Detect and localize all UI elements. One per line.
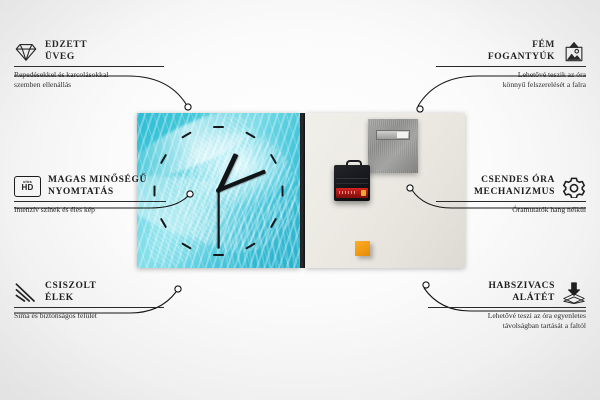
divider: [436, 201, 586, 202]
feature-title-line: ÜVEG: [45, 52, 87, 64]
connector-endpoint: [185, 104, 191, 110]
feature-subtitle-line: Lehetővé teszik az óra: [436, 70, 586, 80]
feature-title: EDZETT ÜVEG: [45, 40, 87, 63]
connector-endpoint: [407, 185, 413, 191]
divider: [14, 307, 164, 308]
feature-quiet-mechanism: CSENDES ÓRA MECHANIZMUS Óramutatók hang …: [436, 175, 586, 215]
feature-subtitle: Lehetővé teszik az óra könnyű felszerelé…: [436, 70, 586, 89]
feature-header: CSENDES ÓRA MECHANIZMUS: [436, 175, 586, 198]
feature-title-line: NYOMTATÁS: [48, 187, 147, 199]
feature-high-quality-print: ultra HD MAGAS MINŐSÉGŰ NYOMTATÁS Intenz…: [14, 175, 166, 215]
feature-header: ultra HD MAGAS MINŐSÉGŰ NYOMTATÁS: [14, 175, 166, 198]
feature-subtitle: Óramutatók hang nélkül: [436, 205, 586, 215]
divider: [14, 66, 164, 67]
feature-title-line: MAGAS MINŐSÉGŰ: [48, 175, 147, 187]
feature-title-line: ALÁTÉT: [488, 293, 555, 305]
feature-subtitle-line: Sima és biztonságos felület: [14, 311, 164, 321]
feature-subtitle-line: Lehetővé teszi az óra egyenletes: [428, 311, 586, 321]
badge-large-text: HD: [22, 184, 34, 193]
feature-subtitle: Lehetővé teszi az óra egyenletes távolsá…: [428, 311, 586, 330]
feature-title-line: FÉM: [488, 40, 555, 52]
connector-endpoint: [187, 191, 193, 197]
connector-endpoint: [175, 286, 181, 292]
feature-title-line: HABSZIVACS: [488, 281, 555, 293]
feature-subtitle-line: Óramutatók hang nélkül: [436, 205, 586, 215]
feature-polished-edges: CSISZOLT ÉLEK Sima és biztonságos felüle…: [14, 281, 164, 321]
feature-subtitle-line: könnyű felszerelését a falra: [436, 80, 586, 90]
feature-title-line: CSENDES ÓRA: [474, 175, 555, 187]
feature-title: CSENDES ÓRA MECHANIZMUS: [474, 175, 555, 198]
divider: [428, 307, 586, 308]
connector-endpoint: [417, 106, 423, 112]
feature-subtitle-line: szemben ellenállás: [14, 80, 164, 90]
ultra-hd-badge-icon: ultra HD: [14, 176, 41, 197]
feature-subtitle-line: távolságban tartását a faltól: [428, 321, 586, 331]
feature-title-line: FOGANTYÚK: [488, 52, 555, 64]
feature-header: FÉM FOGANTYÚK: [436, 40, 586, 63]
feature-subtitle: Intenzív színek és éles kép: [14, 205, 166, 215]
feature-tempered-glass: EDZETT ÜVEG Repedésekkel és karcolásokka…: [14, 40, 164, 89]
press-down-layers-icon: [562, 282, 586, 304]
feature-header: EDZETT ÜVEG: [14, 40, 164, 63]
feature-subtitle: Sima és biztonságos felület: [14, 311, 164, 321]
diamond-icon: [14, 41, 38, 63]
divider: [436, 66, 586, 67]
infographic-canvas: EDZETT ÜVEG Repedésekkel és karcolásokka…: [0, 0, 600, 400]
hanging-picture-icon: [562, 41, 586, 63]
feature-subtitle: Repedésekkel és karcolásokkal szemben el…: [14, 70, 164, 89]
feature-metal-handles: FÉM FOGANTYÚK Lehetővé teszik az óra kön…: [436, 40, 586, 89]
feature-title-line: ÉLEK: [45, 293, 96, 305]
feature-title: FÉM FOGANTYÚK: [488, 40, 555, 63]
feature-header: CSISZOLT ÉLEK: [14, 281, 164, 304]
feature-header: HABSZIVACS ALÁTÉT: [428, 281, 586, 304]
feature-title: MAGAS MINŐSÉGŰ NYOMTATÁS: [48, 175, 147, 198]
feature-title: HABSZIVACS ALÁTÉT: [488, 281, 555, 304]
diagonal-lines-icon: [14, 282, 38, 304]
gear-icon: [562, 176, 586, 198]
feature-foam-backing: HABSZIVACS ALÁTÉT Lehetővé teszi az óra …: [428, 281, 586, 330]
feature-title-line: EDZETT: [45, 40, 87, 52]
feature-subtitle-line: Intenzív színek és éles kép: [14, 205, 166, 215]
feature-title-line: CSISZOLT: [45, 281, 96, 293]
divider: [14, 201, 166, 202]
feature-subtitle-line: Repedésekkel és karcolásokkal: [14, 70, 164, 80]
feature-title: CSISZOLT ÉLEK: [45, 281, 96, 304]
feature-title-line: MECHANIZMUS: [474, 187, 555, 199]
